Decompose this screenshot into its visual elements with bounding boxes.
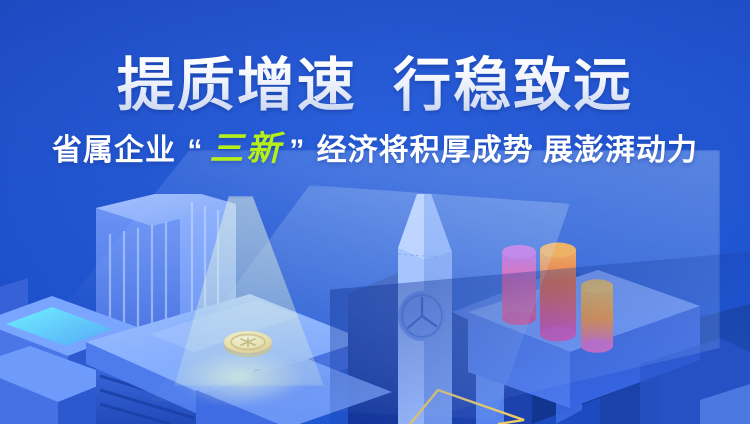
subtitle-tail: 经济将积厚成势 展澎湃动力 (307, 134, 698, 167)
subtitle-accent: 三新 (205, 129, 287, 169)
page-title: 提质增速 行稳致远 (0, 0, 750, 115)
quote-open: “ (185, 134, 205, 167)
quote-close: ” (287, 134, 307, 167)
promo-banner: 提质增速 行稳致远 省属企业 “三新” 经济将积厚成势 展澎湃动力 (0, 0, 750, 424)
subtitle-lead: 省属企业 (52, 134, 185, 167)
page-subtitle: 省属企业 “三新” 经济将积厚成势 展澎湃动力 (0, 115, 750, 168)
spotlight-pool (176, 350, 306, 406)
headline-block: 提质增速 行稳致远 省属企业 “三新” 经济将积厚成势 展澎湃动力 (0, 0, 750, 169)
